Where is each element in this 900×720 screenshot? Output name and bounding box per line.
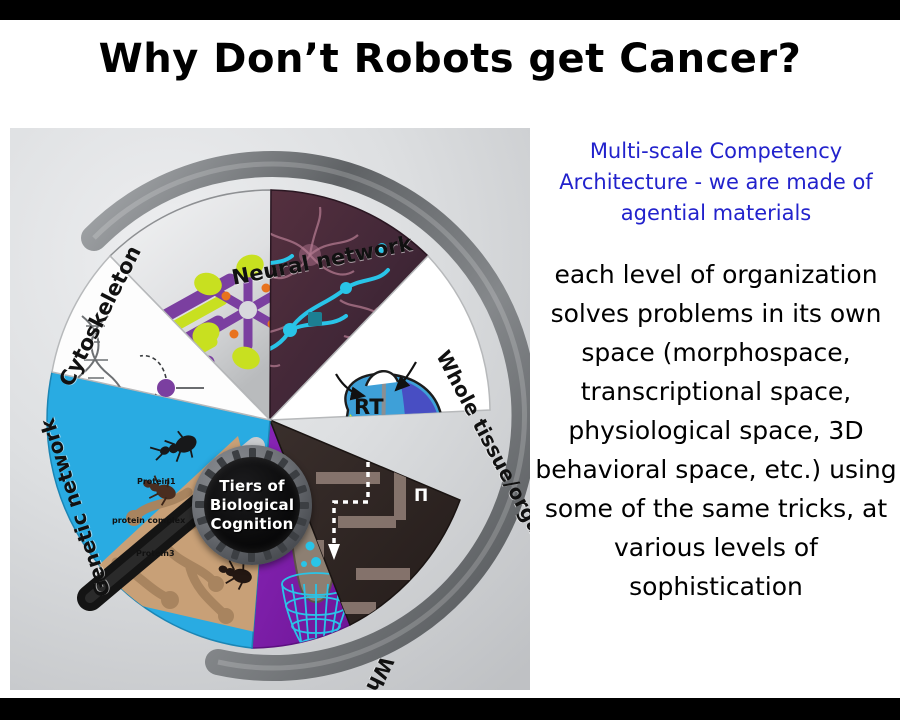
reaction-time-label: RT [354,395,384,419]
emblem-line-3: Cognition [211,515,294,534]
letterbox-bottom [0,698,900,720]
letterbox-top [0,0,900,20]
wheel-diagram [10,128,530,690]
page-title: Why Don’t Robots get Cancer? [0,36,900,82]
protein3-label: Protein3 [136,549,175,558]
emblem-line-1: Tiers of [219,477,285,496]
tiers-of-biological-cognition-figure: Neural network Cytoskeleton Whole tissue… [10,128,530,690]
micro-symbol-label: Π [414,486,428,506]
lead-statement: Multi-scale Competency Architecture - we… [535,136,897,229]
body-statement: each level of organization solves proble… [535,255,897,606]
protein-complex-label: protein complex [112,516,185,525]
right-text-column: Multi-scale Competency Architecture - we… [535,136,897,606]
protein1-label: Protein1 [137,477,176,486]
center-emblem-tiers-of-biological-cognition: Tiers of Biological Cognition [192,445,312,565]
emblem-lens: Tiers of Biological Cognition [204,457,300,553]
emblem-line-2: Biological [210,496,294,515]
slide-root: Why Don’t Robots get Cancer? [0,0,900,720]
